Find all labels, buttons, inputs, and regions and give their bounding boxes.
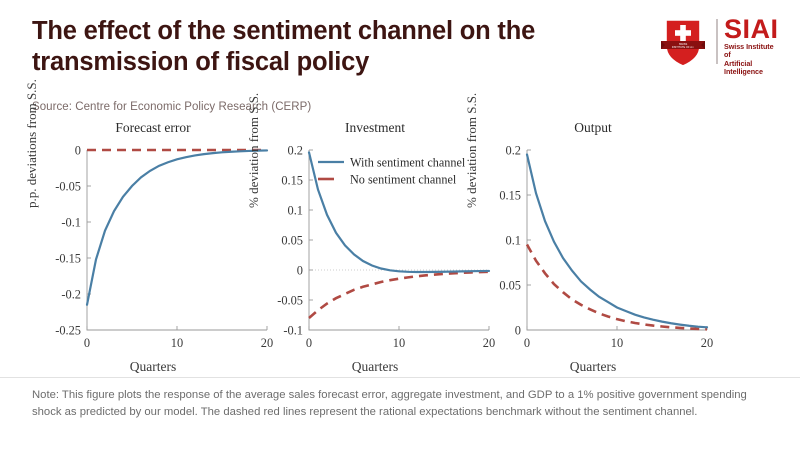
chart-plot-area: 0.20.150.10.05001020 — [468, 120, 718, 375]
series-line — [309, 272, 489, 318]
x-axis-label: Quarters — [28, 359, 278, 375]
siai-logo: SWISS INSTITUTE OF A.I. SIAI Swiss Insti… — [638, 16, 778, 68]
y-tick-label: -0.2 — [61, 287, 81, 301]
x-tick-label: 10 — [171, 336, 183, 350]
logo-subtitle-line1: Swiss Institute of — [724, 43, 779, 60]
figure-note: Note: This figure plots the response of … — [32, 387, 777, 420]
y-tick-label: -0.1 — [61, 215, 81, 229]
series-line — [87, 150, 267, 304]
series-line — [309, 152, 489, 272]
svg-text:INSTITUTE OF A.I.: INSTITUTE OF A.I. — [672, 45, 694, 49]
legend-label: No sentiment channel — [350, 172, 457, 186]
page-header: The effect of the sentiment channel on t… — [0, 0, 800, 92]
figure-panels: Forecast error p.p. deviations from S.S.… — [0, 120, 800, 375]
y-tick-label: -0.05 — [55, 179, 81, 193]
page-title: The effect of the sentiment channel on t… — [32, 16, 622, 78]
y-tick-label: -0.25 — [55, 323, 81, 337]
x-axis-label: Quarters — [250, 359, 500, 375]
series-line — [527, 245, 707, 330]
legend-label: With sentiment channel — [350, 155, 466, 169]
chart-panel-investment: Investment % deviation from S.S. 0.20.15… — [250, 120, 500, 375]
chart-plot-area: 0.20.150.10.050-0.05-0.101020With sentim… — [250, 120, 500, 375]
y-tick-label: 0.15 — [499, 188, 521, 202]
y-tick-label: 0 — [515, 323, 521, 337]
y-tick-label: 0.2 — [506, 143, 522, 157]
logo-divider — [716, 19, 718, 64]
x-tick-label: 20 — [701, 336, 713, 350]
y-tick-label: 0.05 — [499, 278, 521, 292]
x-axis-label: Quarters — [468, 359, 718, 375]
chart-panel-forecast-error: Forecast error p.p. deviations from S.S.… — [28, 120, 278, 375]
y-tick-label: -0.15 — [55, 251, 81, 265]
chart-plot-area: 0-0.05-0.1-0.15-0.2-0.2501020 — [28, 120, 278, 375]
series-line — [527, 155, 707, 328]
note-divider — [0, 377, 800, 378]
logo-wordmark-block: SIAI Swiss Institute of Artificial Intel… — [724, 16, 779, 77]
x-tick-label: 0 — [306, 336, 312, 350]
x-tick-label: 10 — [393, 336, 405, 350]
logo-wordmark: SIAI — [724, 16, 779, 43]
y-tick-label: 0.05 — [281, 233, 303, 247]
y-tick-label: 0.1 — [288, 203, 304, 217]
swiss-cross-shield-icon: SWISS INSTITUTE OF A.I. — [660, 17, 706, 67]
y-tick-label: 0.1 — [506, 233, 522, 247]
x-tick-label: 0 — [84, 336, 90, 350]
y-tick-label: -0.05 — [277, 293, 303, 307]
y-tick-label: -0.1 — [283, 323, 303, 337]
y-tick-label: 0.15 — [281, 173, 303, 187]
x-tick-label: 10 — [611, 336, 623, 350]
chart-panel-output: Output % deviation from S.S. 0.20.150.10… — [468, 120, 718, 375]
source-caption: Source: Centre for Economic Policy Resea… — [32, 101, 311, 113]
y-tick-label: 0.2 — [288, 143, 304, 157]
logo-subtitle-line2: Artificial Intelligence — [724, 60, 779, 77]
y-tick-label: 0 — [75, 143, 81, 157]
y-tick-label: 0 — [297, 263, 303, 277]
x-tick-label: 0 — [524, 336, 530, 350]
